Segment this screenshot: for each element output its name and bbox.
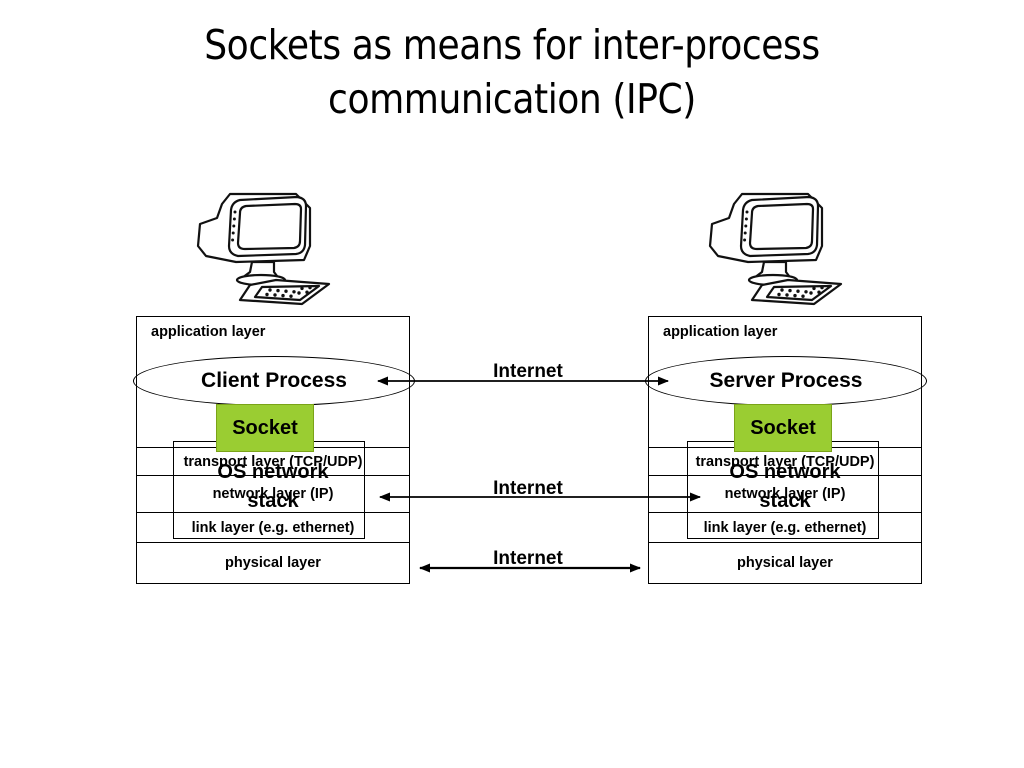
client-layer-application-label: application layer [151,324,265,340]
client-socket-box: Socket [216,404,314,452]
client-process-label: Client Process [201,369,347,393]
client-socket-label: Socket [232,417,298,440]
client-os-network-stack-box [173,441,365,539]
client-layer-physical-label: physical layer [225,555,321,571]
client-computer-icon [184,188,334,311]
internet-label-network: Internet [398,478,658,500]
server-layer-physical-label: physical layer [737,555,833,571]
server-computer-icon [696,188,846,311]
server-layer-application-label: application layer [663,324,777,340]
internet-label-application: Internet [398,361,658,383]
internet-label-physical: Internet [398,548,658,570]
server-os-network-stack-box [687,441,879,539]
slide-title-line-1: Sockets as means for inter-process [61,18,962,72]
slide-title: Sockets as means for inter-process commu… [61,18,962,126]
server-socket-box: Socket [734,404,832,452]
server-process-ellipse: Server Process [645,356,927,406]
server-layer-physical: physical layer [649,543,921,583]
server-socket-label: Socket [750,417,816,440]
client-layer-physical: physical layer [137,543,409,583]
server-process-label: Server Process [710,369,863,393]
slide-title-line-2: communication (IPC) [61,72,962,126]
client-process-ellipse: Client Process [133,356,415,406]
